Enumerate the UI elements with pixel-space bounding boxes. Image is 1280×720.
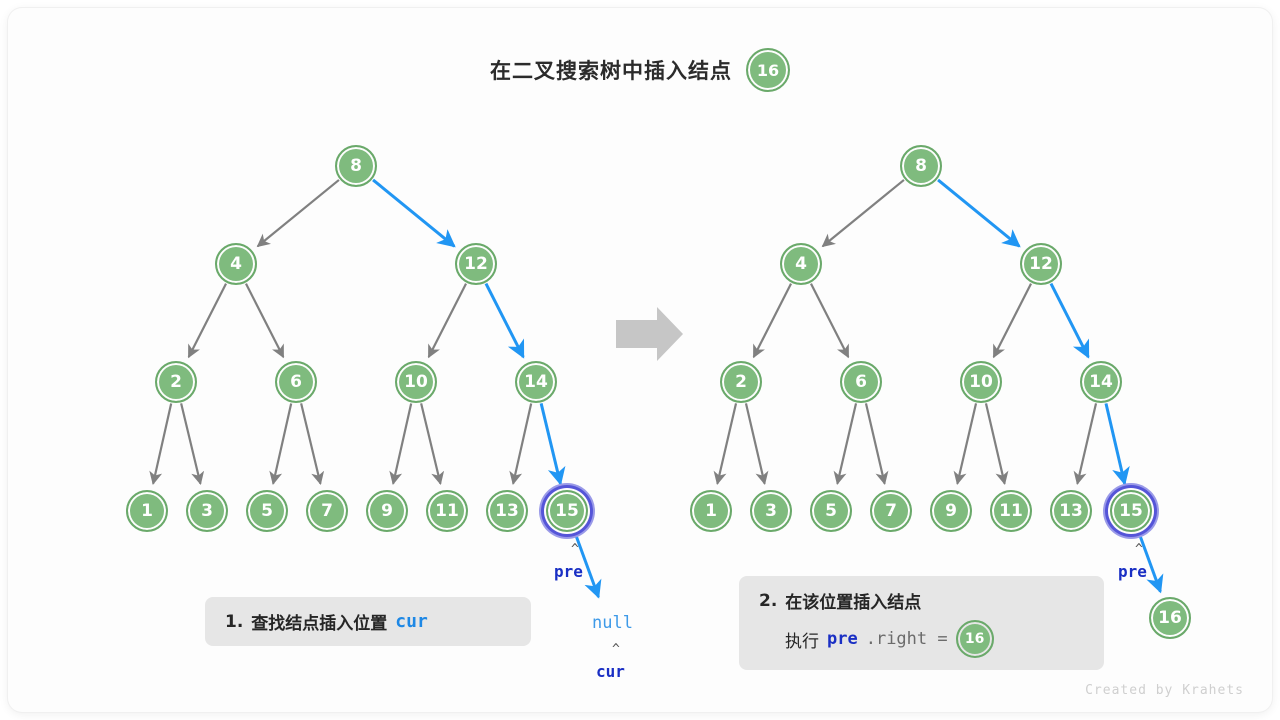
tree-edge [393,403,411,483]
tree-node-4: 4 [780,243,822,285]
tree-node-16: 16 [1149,597,1191,639]
tree-node-9: 9 [366,490,408,532]
tree-edge [938,180,1019,246]
tree-node-1: 1 [690,490,732,532]
tree-node-9: 9 [930,490,972,532]
tree-edge [486,284,523,357]
tree-edge [1077,403,1096,483]
tree-edge [754,284,791,357]
tree-edge [301,403,320,483]
right-arrow-icon [616,307,683,361]
tree-edge [1106,403,1125,483]
caption-2-prefix: 执行 [785,627,819,652]
tree-node-2: 2 [720,361,762,403]
tree-node-13: 13 [486,490,528,532]
tree-node-14: 14 [515,361,557,403]
tree-edge [273,403,291,483]
tree-node-3: 3 [750,490,792,532]
tree-edge [373,180,454,246]
left-cur-caret: ^ [612,642,620,657]
tree-node-4: 4 [215,243,257,285]
tree-edge [717,403,736,483]
tree-edge [153,403,171,483]
tree-node-11: 11 [426,490,468,532]
caption-1-step: 1. [225,612,243,632]
tree-node-10: 10 [960,361,1002,403]
footer-credit: Created by Krahets [1085,683,1244,698]
tree-node-13: 13 [1050,490,1092,532]
tree-edge [421,403,440,483]
tree-edge [541,403,560,483]
tree-edge [811,284,848,357]
tree-edge [513,403,531,483]
caption-2-keyword: pre [827,629,858,649]
tree-edge [246,284,283,357]
tree-edge [189,284,226,357]
caption-2-expr: .right = [866,629,948,649]
tree-edge [837,403,856,483]
tree-edge [994,284,1031,357]
tree-edge [823,180,904,246]
tree-edge [258,180,339,246]
tree-node-15: 15 [546,490,588,532]
tree-edge [986,403,1005,483]
left-pre-caret: ^ [571,542,579,557]
tree-node-5: 5 [810,490,852,532]
tree-node-11: 11 [990,490,1032,532]
tree-node-2: 2 [155,361,197,403]
right-pre-label: pre [1118,562,1147,581]
tree-edge [866,403,885,483]
caption-1-text: 查找结点插入位置 [251,609,387,634]
tree-node-12: 12 [455,243,497,285]
tree-edge [1051,284,1088,357]
caption-step-2: 2. 在该位置插入结点 执行 pre .right = 16 [739,576,1104,670]
tree-node-6: 6 [840,361,882,403]
left-cur-label: cur [596,662,625,681]
tree-node-14: 14 [1080,361,1122,403]
tree-edge [181,403,200,483]
tree-edge [957,403,976,483]
left-pre-label: pre [554,562,583,581]
tree-node-12: 12 [1020,243,1062,285]
right-pre-caret: ^ [1135,542,1143,557]
caption-2-node: 16 [956,620,994,658]
caption-1-pointer: cur [395,611,428,632]
tree-node-1: 1 [126,490,168,532]
tree-node-6: 6 [275,361,317,403]
tree-edge [429,284,466,357]
tree-node-8: 8 [335,145,377,187]
caption-2-step: 2. [759,591,777,611]
diagram-page: 在二叉搜索树中插入结点 16 8412261014135791113158412… [8,8,1272,712]
tree-node-7: 7 [306,490,348,532]
caption-step-1: 1. 查找结点插入位置 cur [205,597,531,646]
tree-node-7: 7 [870,490,912,532]
tree-node-15: 15 [1110,490,1152,532]
tree-node-10: 10 [395,361,437,403]
caption-2-text: 在该位置插入结点 [785,588,921,613]
tree-node-5: 5 [246,490,288,532]
tree-edge [746,403,765,483]
tree-node-3: 3 [186,490,228,532]
tree-node-8: 8 [900,145,942,187]
left-null-label: null [592,613,633,633]
